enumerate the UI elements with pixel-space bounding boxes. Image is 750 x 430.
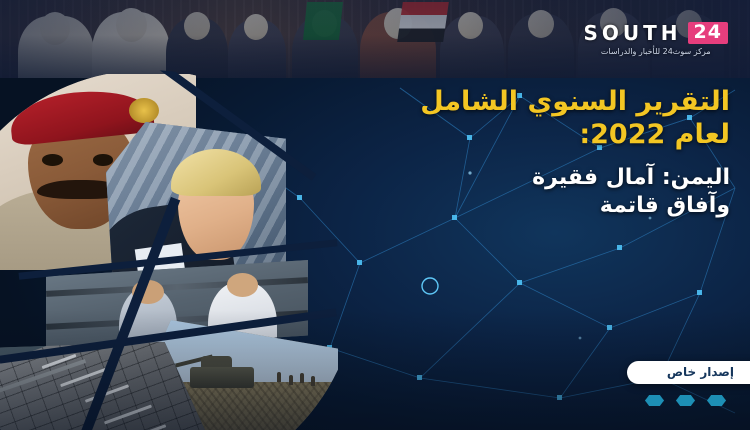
logo-wordmark: SOUTH <box>584 23 682 43</box>
soldier-figure <box>300 373 304 383</box>
tank-hull <box>190 367 255 388</box>
south24-logo[interactable]: SOUTH 24 مركز سوث24 للأخبار والدراسات <box>584 22 728 56</box>
beret-badge-icon <box>129 98 159 123</box>
decorative-dots <box>645 395 726 406</box>
officer-eye-left <box>42 154 63 166</box>
soldier-figure <box>289 375 293 385</box>
report-subtitle-line-2: وآفاق قاتمة <box>300 192 730 220</box>
logo-subtitle: مركز سوث24 للأخبار والدراسات <box>584 47 728 56</box>
soldier-figure <box>311 376 315 386</box>
report-subtitle-line-1: اليمن: آمال فقيرة <box>300 164 730 192</box>
hexagon-dot-icon <box>707 395 726 406</box>
report-title-line-1: التقرير السنوي الشامل <box>300 86 730 119</box>
title-block: التقرير السنوي الشامل لعام 2022: اليمن: … <box>300 86 730 220</box>
soldier-figure <box>277 372 281 382</box>
seated-man-right-head <box>227 273 258 297</box>
report-title-line-2: لعام 2022: <box>300 119 730 152</box>
poster-root: SOUTH 24 مركز سوث24 للأخبار والدراسات <box>0 0 750 430</box>
hexagon-dot-icon <box>645 395 664 406</box>
special-edition-badge: إصدار خاص <box>627 361 750 384</box>
hexagon-dot-icon <box>676 395 695 406</box>
logo-number-badge: 24 <box>688 22 728 44</box>
logo-row: SOUTH 24 <box>584 22 728 44</box>
